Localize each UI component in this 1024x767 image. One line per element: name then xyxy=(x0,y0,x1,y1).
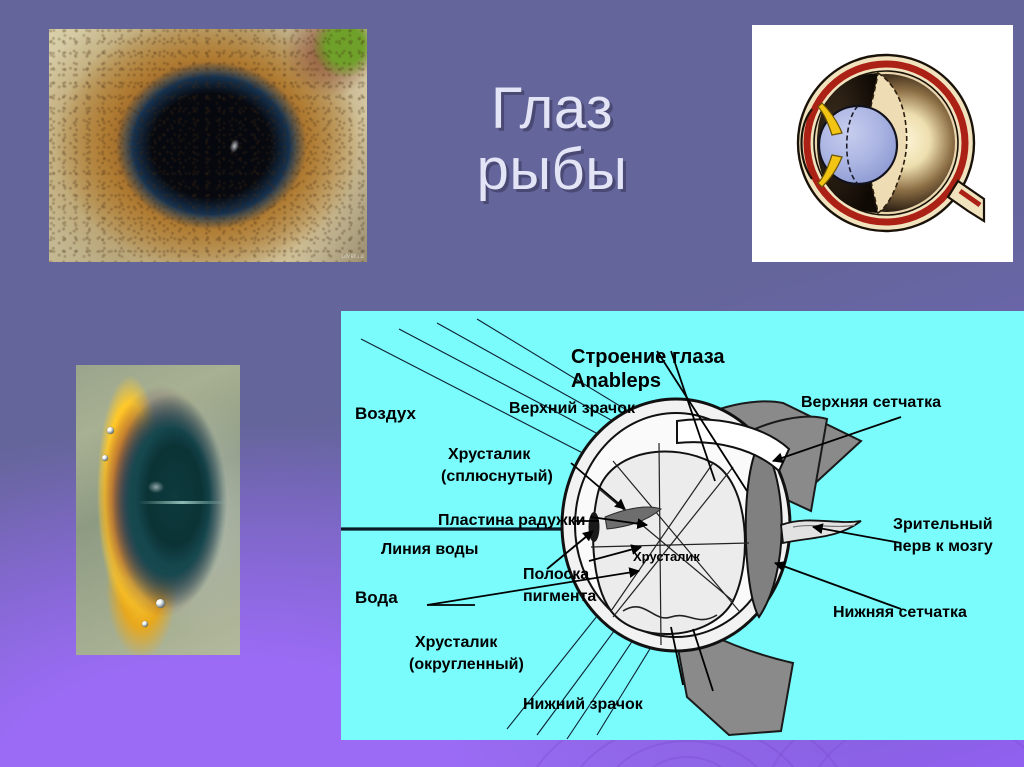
label-lens-round-line2: (округленный) xyxy=(409,656,524,673)
photo-watermark: otvet.ru xyxy=(342,254,364,260)
photo-anableps-eye xyxy=(76,365,240,655)
diagram-panel-anableps-eye: Строение глаза Anableps Воздух Верхний з… xyxy=(341,311,1024,740)
label-lens-flat-line2: (сплюснутый) xyxy=(441,468,553,485)
eye-anatomy-illustration xyxy=(782,41,987,246)
label-water: Вода xyxy=(355,588,398,607)
lens-body xyxy=(593,451,745,634)
label-lens-center: Хрусталик xyxy=(633,549,700,564)
label-lower-retina: Нижняя сетчатка xyxy=(833,604,967,621)
label-optic-nerve-line1: Зрительный xyxy=(893,516,993,533)
water-bubble xyxy=(102,455,108,461)
water-bubble xyxy=(156,599,165,608)
water-bubble xyxy=(107,427,114,434)
anableps-eye-highlight xyxy=(148,481,164,493)
label-lower-pupil: Нижний зрачок xyxy=(523,696,644,713)
anableps-eye-image xyxy=(76,365,240,655)
label-upper-pupil: Верхний зрачок xyxy=(509,400,636,417)
label-pigment-strip-line2: пигмента xyxy=(523,588,596,605)
optic-nerve-bundle xyxy=(781,520,861,543)
label-lens-round-line1: Хрусталик xyxy=(415,634,498,651)
photo-fish-eye: otvet.ru xyxy=(49,29,367,262)
water-bubble xyxy=(142,621,148,627)
anableps-diagram: Строение глаза Anableps Воздух Верхний з… xyxy=(341,311,1024,740)
label-upper-retina: Верхняя сетчатка xyxy=(801,394,941,411)
anableps-eye-streak xyxy=(138,501,227,504)
ripple-decoration xyxy=(636,756,738,767)
label-lens-flat-line1: Хрусталик xyxy=(448,446,531,463)
label-optic-nerve-line2: нерв к мозгу xyxy=(893,538,993,555)
card-eye-anatomy xyxy=(752,25,1013,262)
label-iris-plate: Пластина радужки xyxy=(438,512,585,529)
slide-title: Глаз рыбы xyxy=(414,78,690,201)
ripple-decoration xyxy=(600,740,774,767)
label-air: Воздух xyxy=(355,404,417,423)
diagram-title-line2: Anableps xyxy=(571,370,661,392)
fish-eye-speckle-texture xyxy=(49,29,367,262)
pigment-strip xyxy=(589,512,600,542)
label-water-line: Линия воды xyxy=(381,541,478,558)
diagram-title-line1: Строение глаза xyxy=(571,346,725,368)
slide-canvas: Глаз рыбы otvet.ru xyxy=(0,0,1024,767)
label-pigment-strip-line1: Полоска xyxy=(523,566,589,583)
